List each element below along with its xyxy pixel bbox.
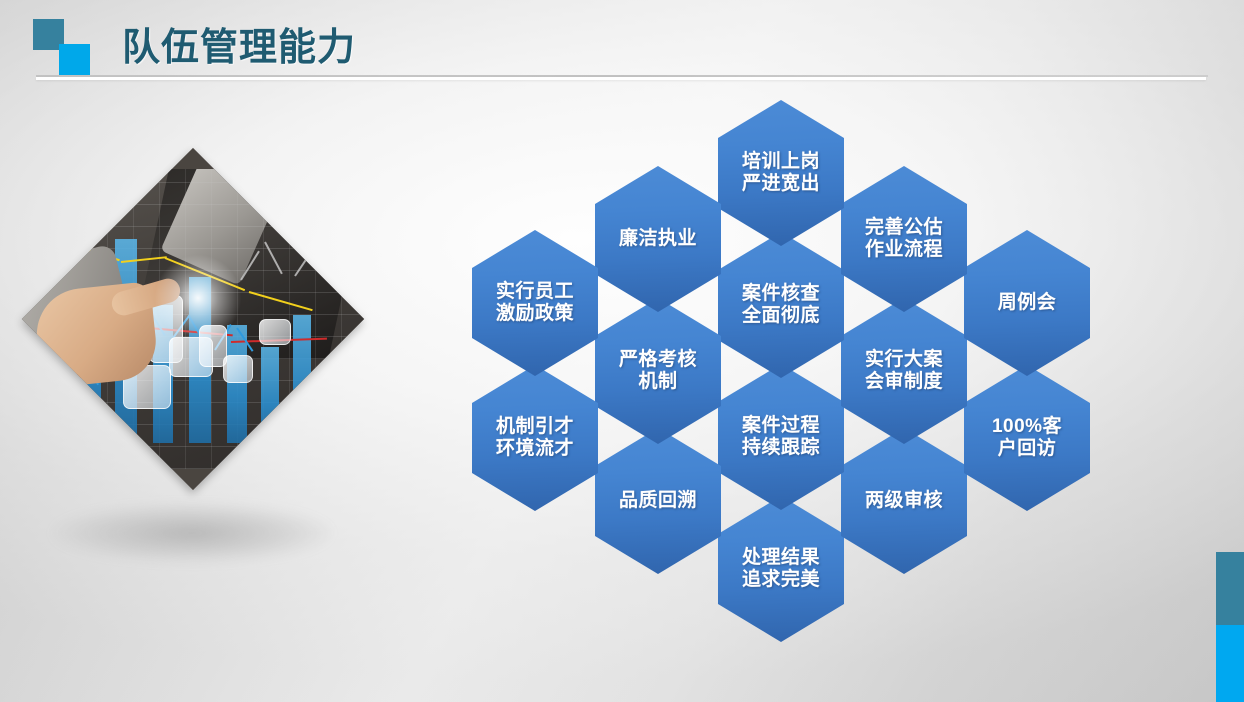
hexagon-label: 周例会	[994, 292, 1061, 314]
hexagon-diagram: 实行员工 激励政策机制引才 环境流才廉洁执业严格考核 机制品质回溯培训上岗 严进…	[0, 0, 1244, 702]
hexagon-hex-9[interactable]: 处理结果 追求完美	[718, 496, 844, 642]
hexagon-hex-1[interactable]: 实行员工 激励政策	[472, 230, 598, 376]
hexagon-label: 处理结果 追求完美	[738, 547, 824, 591]
hexagon-hex-7[interactable]: 案件核查 全面彻底	[718, 232, 844, 378]
hexagon-hex-13[interactable]: 周例会	[964, 230, 1090, 376]
hexagon-label: 实行大案 会审制度	[861, 349, 947, 393]
hexagon-hex-6[interactable]: 培训上岗 严进宽出	[718, 100, 844, 246]
hexagon-label: 廉洁执业	[615, 228, 701, 250]
hexagon-hex-4[interactable]: 严格考核 机制	[595, 298, 721, 444]
corner-accent-teal	[1216, 552, 1244, 625]
hexagon-label: 严格考核 机制	[615, 349, 701, 393]
hexagon-label: 品质回溯	[615, 490, 701, 512]
hexagon-label: 案件过程 持续跟踪	[738, 415, 824, 459]
hexagon-hex-3[interactable]: 廉洁执业	[595, 166, 721, 312]
hexagon-hex-8[interactable]: 案件过程 持续跟踪	[718, 364, 844, 510]
hexagon-hex-11[interactable]: 实行大案 会审制度	[841, 298, 967, 444]
hexagon-hex-2[interactable]: 机制引才 环境流才	[472, 365, 598, 511]
hexagon-label: 实行员工 激励政策	[492, 281, 578, 325]
hexagon-hex-10[interactable]: 完善公估 作业流程	[841, 166, 967, 312]
hexagon-label: 机制引才 环境流才	[492, 416, 578, 460]
slide-canvas: 队伍管理能力	[0, 0, 1244, 702]
hexagon-hex-14[interactable]: 100%客 户回访	[964, 365, 1090, 511]
hexagon-label: 两级审核	[861, 490, 947, 512]
hexagon-hex-12[interactable]: 两级审核	[841, 428, 967, 574]
hexagon-label: 培训上岗 严进宽出	[738, 151, 824, 195]
hexagon-label: 100%客 户回访	[988, 416, 1066, 460]
hexagon-label: 案件核查 全面彻底	[738, 283, 824, 327]
hexagon-label: 完善公估 作业流程	[861, 217, 947, 261]
corner-accent-blue	[1216, 625, 1244, 702]
hexagon-hex-5[interactable]: 品质回溯	[595, 428, 721, 574]
